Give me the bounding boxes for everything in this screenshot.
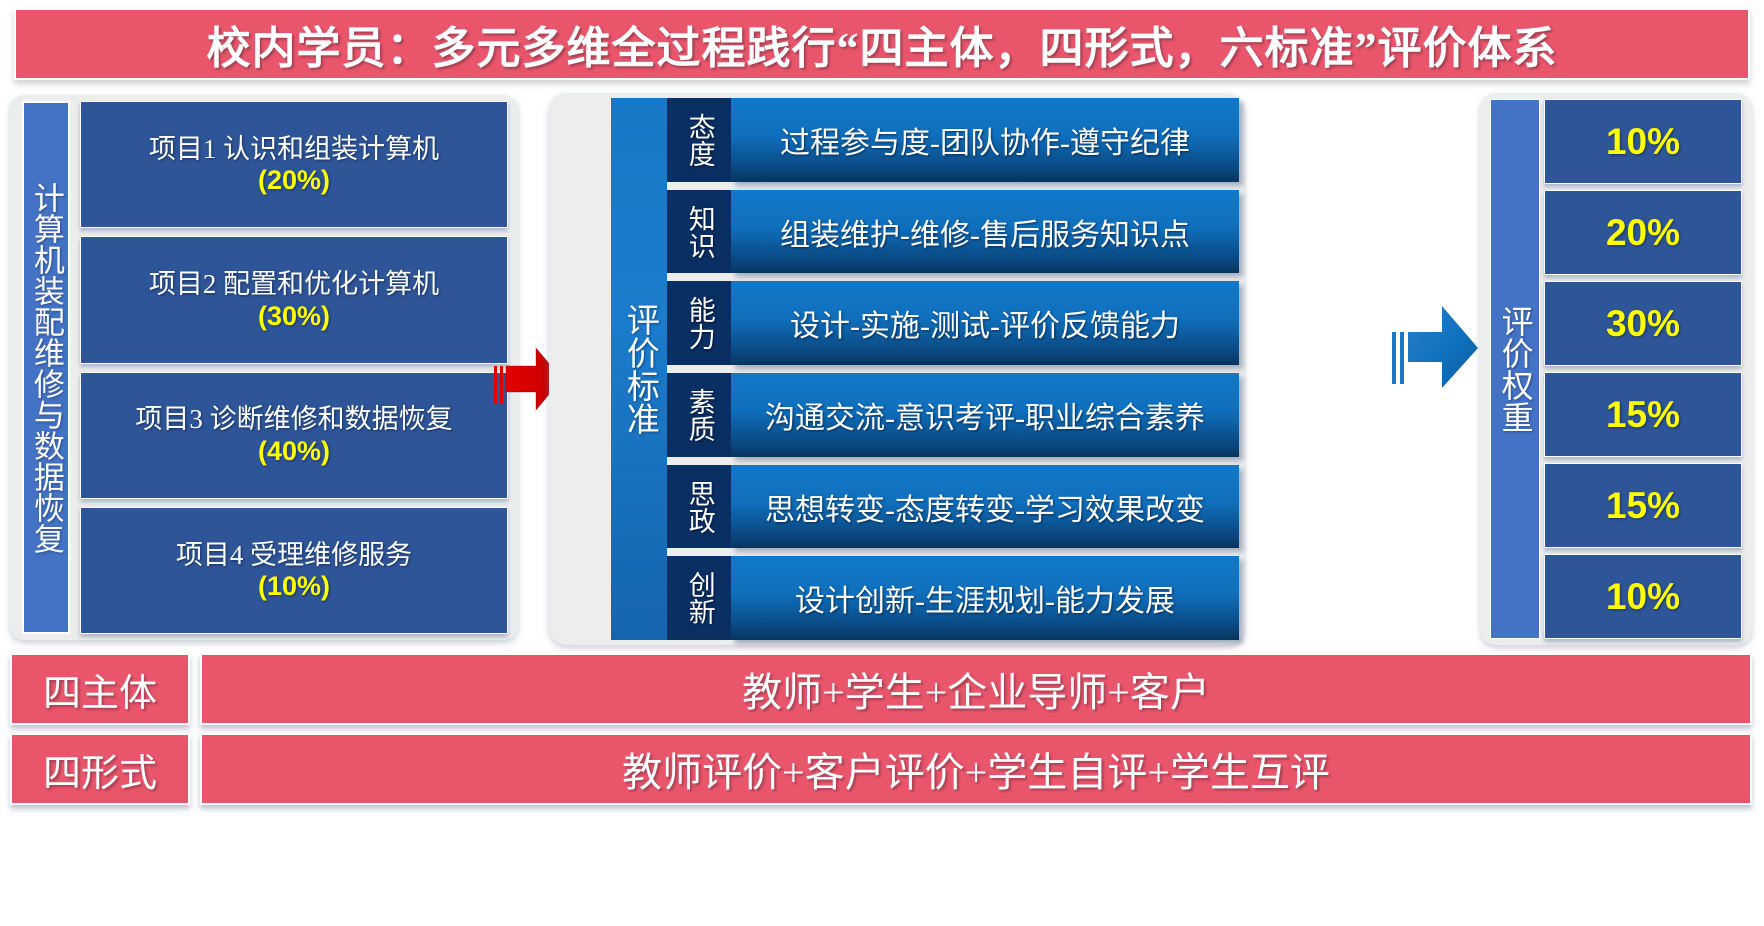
project-list: 项目1 认识和组装计算机 (20%) 项目2 配置和优化计算机 (30%) 项目… — [80, 101, 508, 634]
bottom-row-label: 四形式 — [10, 733, 190, 805]
right-arrow-icon — [1390, 296, 1482, 396]
criterion-row[interactable]: 素质 沟通交流-意识考评-职业综合素养 — [667, 373, 1239, 457]
criterion-row[interactable]: 知识 组装维护-维修-售后服务知识点 — [667, 190, 1239, 274]
project-weight: (40%) — [258, 436, 330, 467]
diagram-root: 校内学员：多元多维全过程践行“四主体，四形式，六标准”评价体系 计算机装配维修与… — [0, 0, 1764, 926]
criterion-category: 创新 — [667, 556, 731, 640]
project-weight: (20%) — [258, 165, 330, 196]
weight-item[interactable]: 10% — [1544, 99, 1742, 184]
weight-item[interactable]: 20% — [1544, 190, 1742, 275]
criterion-category: 素质 — [667, 373, 731, 457]
project-item[interactable]: 项目2 配置和优化计算机 (30%) — [80, 236, 508, 363]
weight-item[interactable]: 15% — [1544, 463, 1742, 548]
criterion-category: 知识 — [667, 190, 731, 274]
criterion-row[interactable]: 创新 设计创新-生涯规划-能力发展 — [667, 556, 1239, 640]
bottom-row-value: 教师评价+客户评价+学生自评+学生互评 — [200, 733, 1752, 805]
criterion-detail: 设计-实施-测试-评价反馈能力 — [731, 281, 1239, 365]
criterion-detail: 过程参与度-团队协作-遵守纪律 — [731, 98, 1239, 182]
criteria-list: 态度 过程参与度-团队协作-遵守纪律 知识 组装维护-维修-售后服务知识点 能力… — [667, 98, 1239, 640]
left-course-panel: 计算机装配维修与数据恢复 项目1 认识和组装计算机 (20%) 项目2 配置和优… — [10, 95, 518, 640]
criterion-row[interactable]: 思政 思想转变-态度转变-学习效果改变 — [667, 465, 1239, 549]
project-name: 项目3 诊断维修和数据恢复 — [135, 403, 452, 435]
bottom-row-label: 四主体 — [10, 653, 190, 725]
left-panel-vertical-label: 计算机装配维修与数据恢复 — [22, 101, 70, 634]
right-panel-vertical-label: 评价权重 — [1490, 99, 1540, 639]
bottom-row-subjects: 四主体 教师+学生+企业导师+客户 — [10, 653, 1752, 725]
project-name: 项目2 配置和优化计算机 — [149, 268, 439, 300]
criterion-detail: 设计创新-生涯规划-能力发展 — [731, 556, 1239, 640]
page-title: 校内学员：多元多维全过程践行“四主体，四形式，六标准”评价体系 — [14, 8, 1750, 80]
weight-panel: 评价权重 10% 20% 30% 15% 15% 10% — [1480, 93, 1752, 645]
weight-item[interactable]: 15% — [1544, 372, 1742, 457]
criterion-row[interactable]: 态度 过程参与度-团队协作-遵守纪律 — [667, 98, 1239, 182]
bottom-row-forms: 四形式 教师评价+客户评价+学生自评+学生互评 — [10, 733, 1752, 805]
project-name: 项目4 受理维修服务 — [176, 539, 412, 571]
project-item[interactable]: 项目4 受理维修服务 (10%) — [80, 507, 508, 634]
criterion-category: 态度 — [667, 98, 731, 182]
middle-panel-vertical-label: 评价标准 — [611, 98, 667, 640]
criterion-detail: 组装维护-维修-售后服务知识点 — [731, 190, 1239, 274]
criterion-category: 思政 — [667, 465, 731, 549]
page-title-text: 校内学员：多元多维全过程践行“四主体，四形式，六标准”评价体系 — [207, 12, 1558, 76]
criterion-category: 能力 — [667, 281, 731, 365]
project-weight: (30%) — [258, 301, 330, 332]
project-name: 项目1 认识和组装计算机 — [149, 133, 439, 165]
weight-list: 10% 20% 30% 15% 15% 10% — [1544, 99, 1742, 639]
criterion-row[interactable]: 能力 设计-实施-测试-评价反馈能力 — [667, 281, 1239, 365]
criterion-detail: 沟通交流-意识考评-职业综合素养 — [731, 373, 1239, 457]
weight-item[interactable]: 10% — [1544, 554, 1742, 639]
weight-item[interactable]: 30% — [1544, 281, 1742, 366]
project-weight: (10%) — [258, 571, 330, 602]
evaluation-criteria-panel: 评价标准 态度 过程参与度-团队协作-遵守纪律 知识 组装维护-维修-售后服务知… — [549, 93, 1244, 645]
project-item[interactable]: 项目1 认识和组装计算机 (20%) — [80, 101, 508, 228]
project-item[interactable]: 项目3 诊断维修和数据恢复 (40%) — [80, 372, 508, 499]
bottom-row-value: 教师+学生+企业导师+客户 — [200, 653, 1752, 725]
criterion-detail: 思想转变-态度转变-学习效果改变 — [731, 465, 1239, 549]
